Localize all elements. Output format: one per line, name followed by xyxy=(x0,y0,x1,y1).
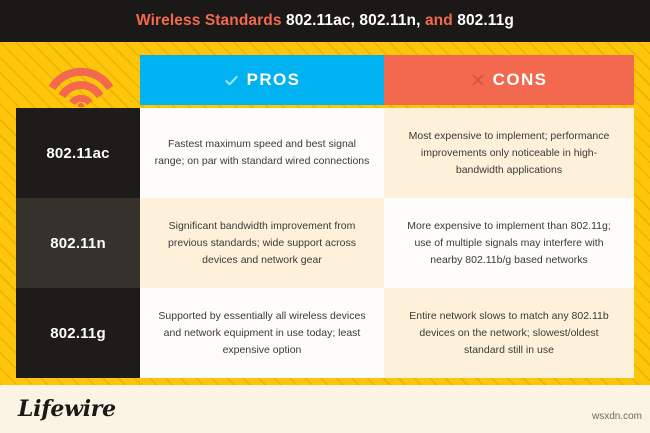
title-accent-2: and xyxy=(425,12,453,29)
row-pros-cell: Supported by essentially all wireless de… xyxy=(140,288,384,378)
watermark: wsxdn.com xyxy=(592,411,642,422)
table-row: 802.11g Supported by essentially all wir… xyxy=(16,288,634,378)
title-bar: Wireless Standards 802.11ac, 802.11n, an… xyxy=(0,0,650,42)
infographic-root: Wireless Standards 802.11ac, 802.11n, an… xyxy=(0,0,650,433)
title-accent-1: Wireless Standards xyxy=(136,12,282,29)
row-standard-label: 802.11n xyxy=(16,198,140,288)
row-cons-cell: More expensive to implement than 802.11g… xyxy=(384,198,634,288)
check-icon xyxy=(224,73,239,88)
wifi-icon xyxy=(48,57,114,107)
column-header-cons: CONS xyxy=(384,55,634,105)
pros-header-label: PROS xyxy=(247,70,301,90)
row-cons-cell: Entire network slows to match any 802.11… xyxy=(384,288,634,378)
row-cons-cell: Most expensive to implement; performance… xyxy=(384,108,634,198)
title-white-1: 802.11ac, 802.11n, xyxy=(286,12,421,29)
table-row: 802.11n Significant bandwidth improvemen… xyxy=(16,198,634,288)
lifewire-logo: Lifewire xyxy=(18,396,116,422)
column-header-pros: PROS xyxy=(140,55,384,105)
table-row: 802.11ac Fastest maximum speed and best … xyxy=(16,108,634,198)
row-standard-label: 802.11ac xyxy=(16,108,140,198)
row-pros-cell: Significant bandwidth improvement from p… xyxy=(140,198,384,288)
footer: Lifewire wsxdn.com xyxy=(0,385,650,433)
row-pros-cell: Fastest maximum speed and best signal ra… xyxy=(140,108,384,198)
title-white-2: 802.11g xyxy=(457,12,514,29)
cons-header-label: CONS xyxy=(493,70,548,90)
page-title: Wireless Standards 802.11ac, 802.11n, an… xyxy=(136,12,514,30)
row-standard-label: 802.11g xyxy=(16,288,140,378)
close-icon xyxy=(471,73,485,87)
